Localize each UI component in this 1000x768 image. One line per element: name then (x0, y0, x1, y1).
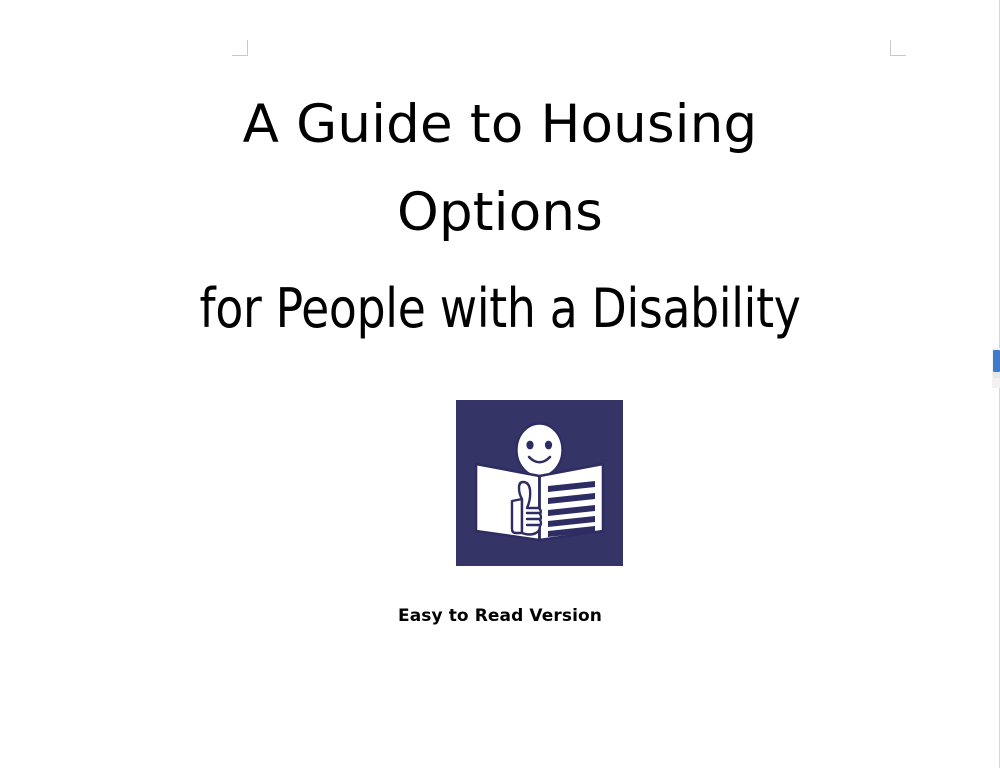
top-left-margin-mark (232, 40, 248, 56)
scrollbar-thumb[interactable] (993, 350, 1000, 372)
document-page: A Guide to Housing Options for People wi… (0, 0, 1000, 768)
easy-to-read-caption: Easy to Read Version (0, 606, 1000, 626)
title-line-3: for People with a Disability (30, 280, 970, 338)
top-right-margin-mark (890, 40, 906, 56)
page-title: A Guide to Housing Options for People wi… (0, 96, 1000, 338)
title-line-2: Options (0, 184, 1000, 242)
title-line-1: A Guide to Housing (0, 96, 1000, 154)
easy-to-read-logo-icon (456, 400, 623, 566)
easy-to-read-logo (456, 400, 623, 566)
scrollbar-thumb-cap (993, 372, 1000, 378)
